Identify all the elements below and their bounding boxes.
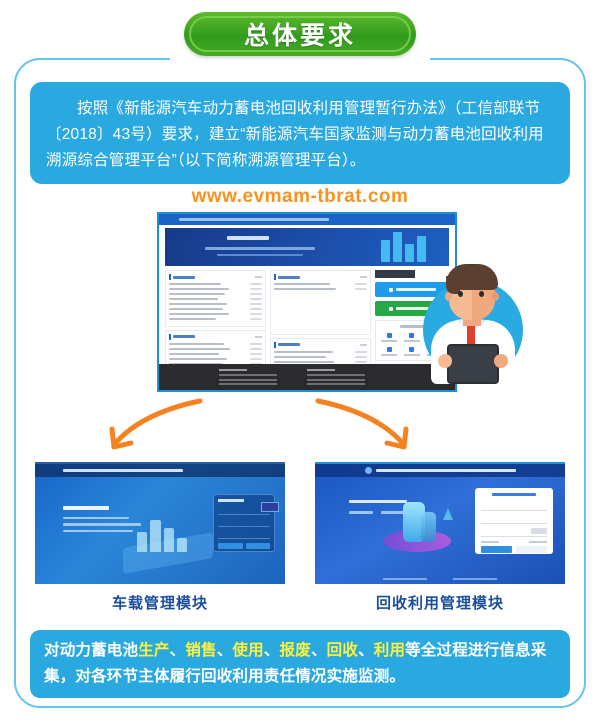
module-label-vehicle: 车载管理模块: [35, 592, 285, 613]
summary-keyword: 使用: [232, 642, 263, 659]
module-footer: [315, 578, 565, 580]
summary-keyword: 报废: [280, 642, 311, 659]
summary-sep: 、: [170, 642, 186, 659]
illustration-eye-left: [458, 291, 463, 297]
module-illustration: [379, 498, 455, 556]
screenshot-footer: [159, 364, 455, 390]
summary-sep: 、: [217, 642, 233, 659]
connector-arrows: [100, 395, 500, 467]
screenshot-topbar: [159, 214, 455, 225]
summary-paragraph: 对动力蓄电池生产、销售、使用、报废、回收、利用等全过程进行信息采集，对各环节主体…: [44, 638, 556, 690]
summary-sep: 、: [264, 642, 280, 659]
intro-paragraph: 按照《新能源汽车动力蓄电池回收利用管理暂行办法》（工信部联节〔2018〕43号）…: [46, 96, 554, 174]
module-label-recycling: 回收利用管理模块: [315, 592, 565, 613]
module-password-field[interactable]: [481, 515, 547, 524]
intro-card: 按照《新能源汽车动力蓄电池回收利用管理暂行办法》（工信部联节〔2018〕43号）…: [30, 82, 570, 184]
module-card-recycling: 回收利用管理模块: [315, 462, 565, 613]
header-badge: 总体要求: [184, 12, 416, 56]
platform-url[interactable]: www.evmam-tbrat.com: [30, 186, 570, 208]
infographic-page: 总体要求 按照《新能源汽车动力蓄电池回收利用管理暂行办法》（工信部联节〔2018…: [0, 0, 600, 722]
module-captcha-image[interactable]: [531, 528, 547, 534]
header-badge-wrapper: 总体要求: [0, 12, 600, 56]
screenshot-quick-link[interactable]: [379, 347, 400, 356]
module-login-panel: [475, 488, 553, 554]
summary-sep: 、: [311, 642, 327, 659]
screenshot-sidebar-tag: [375, 270, 415, 278]
module-titlebar: [315, 464, 565, 477]
screenshot-news-block: [270, 270, 371, 335]
module-reset-button[interactable]: [246, 543, 271, 549]
screenshot-news-block: [165, 270, 266, 327]
module-screenshot: [35, 462, 285, 584]
summary-keyword: 利用: [374, 642, 405, 659]
illustration-ear-right: [492, 292, 499, 301]
curved-arrow-down-left: [114, 401, 200, 445]
curved-arrow-down-right: [318, 401, 404, 445]
module-password-field[interactable]: [218, 519, 270, 527]
module-captcha-field[interactable]: [218, 531, 270, 539]
summary-sep: 、: [358, 642, 374, 659]
module-illustration: [123, 504, 213, 566]
module-card-vehicle: 车载管理模块: [35, 462, 285, 613]
illustration-hand-left: [438, 354, 452, 368]
summary-card: 对动力蓄电池生产、销售、使用、报废、回收、利用等全过程进行信息采集，对各环节主体…: [30, 630, 570, 698]
summary-prefix: 对动力蓄电池: [44, 642, 138, 659]
screenshot-quick-link[interactable]: [379, 333, 400, 342]
summary-keyword: 生产: [138, 642, 169, 659]
summary-keyword: 销售: [185, 642, 216, 659]
module-login-button[interactable]: [218, 543, 243, 549]
module-username-field[interactable]: [481, 502, 547, 511]
platform-homepage-screenshot: [157, 212, 457, 392]
module-reset-button[interactable]: [516, 546, 547, 553]
module-captcha-field[interactable]: [481, 528, 547, 537]
module-captcha-image[interactable]: [261, 502, 279, 512]
illustration-eye-right: [479, 291, 484, 297]
screenshot-hero-banner: [165, 228, 449, 266]
tablet-icon: [447, 344, 499, 384]
illustration-hand-right: [494, 354, 508, 368]
businessman-illustration: [413, 258, 531, 384]
module-login-button[interactable]: [481, 546, 512, 553]
summary-keyword: 回收: [327, 642, 358, 659]
module-screenshot: [315, 462, 565, 584]
header-badge-label: 总体要求: [244, 16, 356, 52]
module-titlebar: [35, 464, 285, 477]
